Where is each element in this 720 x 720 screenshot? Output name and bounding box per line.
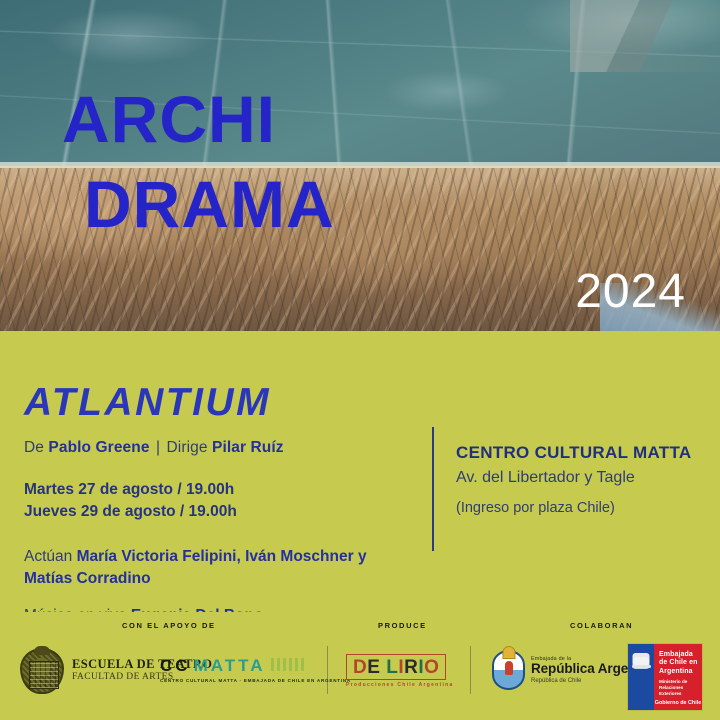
ccmatta-matta-text: MATTA xyxy=(194,656,266,676)
chile-red-panel: Embajada de Chile en Argentina Ministeri… xyxy=(654,644,702,710)
festival-year: 2024 xyxy=(575,268,686,316)
performance-date-2: Jueves 29 de agosto / 19.00h xyxy=(24,501,414,523)
logo-embajada-de-chile: Embajada de Chile en Argentina Ministeri… xyxy=(628,644,702,710)
chile-line2: Ministerio de Relaciones Exteriores xyxy=(659,679,702,696)
ccmatta-wordmark: CC MATTA xyxy=(160,656,351,676)
festival-headline: ARCHI DRAMA xyxy=(62,88,335,237)
venue-entrance-note: (Ingreso por plaza Chile) xyxy=(456,500,706,516)
performance-date-1: Martes 27 de agosto / 19.00h xyxy=(24,479,414,501)
venue-name: CENTRO CULTURAL MATTA xyxy=(456,443,706,463)
sponsor-section-labels: CON EL APOYO DE PRODUCE COLABORAN xyxy=(0,612,720,634)
university-crest-icon xyxy=(20,648,64,694)
ccmatta-bars-icon xyxy=(271,658,304,671)
cast-label: Actúan xyxy=(24,548,77,565)
authorship-credits: De Pablo Greene | Dirige Pilar Ruíz xyxy=(24,439,414,457)
label-colaboran: COLABORAN xyxy=(570,621,633,630)
argentina-coat-of-arms-icon xyxy=(492,650,525,690)
ccmatta-subtitle: CENTRO CULTURAL MATTA · EMBAJADA DE CHIL… xyxy=(160,678,351,683)
performance-dates: Martes 27 de agosto / 19.00h Jueves 29 d… xyxy=(24,479,414,524)
delirio-wordmark: DE LIRIO xyxy=(353,658,439,677)
label-con-el-apoyo-de: CON EL APOYO DE xyxy=(122,621,216,630)
delirio-wordmark-box: DE LIRIO xyxy=(346,654,446,680)
sponsor-divider-2 xyxy=(470,646,471,694)
playwright-name: Pablo Greene xyxy=(48,439,149,456)
credit-de-label: De xyxy=(24,439,48,456)
venue-address: Av. del Libertador y Tagle xyxy=(456,469,706,487)
venue-column: CENTRO CULTURAL MATTA Av. del Libertador… xyxy=(456,443,706,516)
poster-body: ATLANTIUM De Pablo Greene | Dirige Pilar… xyxy=(0,331,720,612)
cast-credits: Actúan María Victoria Felipini, Iván Mos… xyxy=(24,546,414,589)
poster-root: ARCHI DRAMA 2024 ATLANTIUM De Pablo Gree… xyxy=(0,0,720,720)
delirio-subtitle: Producciones Chile Argentina xyxy=(346,682,462,688)
director-name: Pilar Ruíz xyxy=(212,439,284,456)
show-details-column: ATLANTIUM De Pablo Greene | Dirige Pilar… xyxy=(24,383,414,625)
chile-line3: Gobierno de Chile xyxy=(654,700,702,706)
label-produce: PRODUCE xyxy=(378,621,427,630)
credit-separator: | xyxy=(150,439,167,456)
chile-blue-panel xyxy=(628,644,654,710)
headline-line-archi: ARCHI xyxy=(62,88,335,151)
logo-de-lirio: DE LIRIO Producciones Chile Argentina xyxy=(346,654,462,688)
column-divider xyxy=(432,427,434,551)
chile-coat-of-arms-icon xyxy=(633,653,650,669)
chile-line1: Embajada de Chile en Argentina xyxy=(659,651,702,676)
sponsors-footer: CON EL APOYO DE PRODUCE COLABORAN ESCUEL… xyxy=(0,612,720,720)
play-title: ATLANTIUM xyxy=(24,383,414,422)
headline-line-drama: DRAMA xyxy=(62,173,335,236)
logo-cc-matta: CC MATTA CENTRO CULTURAL MATTA · EMBAJAD… xyxy=(160,656,351,683)
ccmatta-cc-text: CC xyxy=(160,656,191,676)
sponsor-logo-row: ESCUELA DE TEATRO FACULTAD DE ARTES CC M… xyxy=(0,634,720,720)
credit-dirige-label: Dirige xyxy=(167,439,213,456)
